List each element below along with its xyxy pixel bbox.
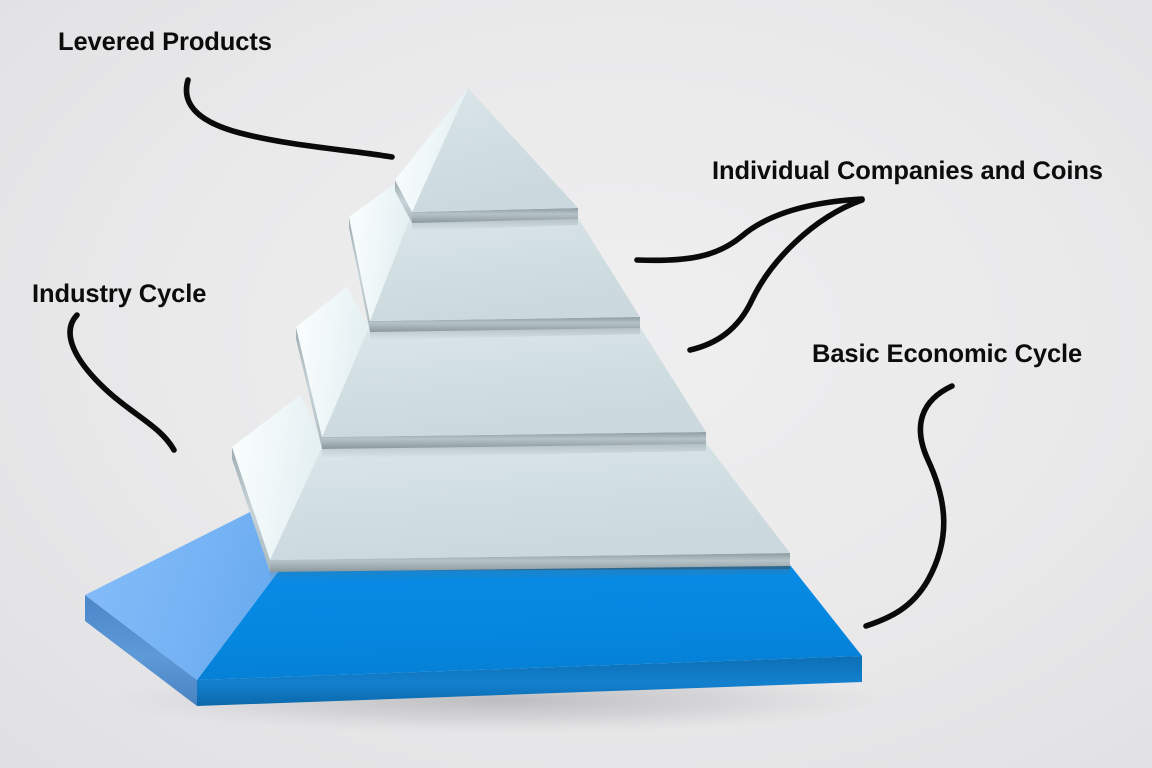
label-basic-economic-cycle: Basic Economic Cycle bbox=[812, 340, 1082, 368]
label-industry-cycle: Industry Cycle bbox=[32, 280, 206, 308]
tier4-face-front bbox=[270, 443, 790, 560]
tier2-face-front bbox=[370, 218, 640, 321]
label-individual-companies-and-coins: Individual Companies and Coins bbox=[712, 157, 1103, 185]
connector-individual-upper bbox=[637, 199, 862, 260]
connector-levered-products bbox=[186, 80, 392, 157]
tier-apex-grey[interactable] bbox=[395, 88, 578, 231]
diagram-canvas: Levered Products Industry Cycle Individu… bbox=[0, 0, 1152, 768]
connector-industry-cycle bbox=[70, 315, 174, 450]
tier3-face-front bbox=[322, 327, 706, 437]
pyramid-diagram bbox=[0, 0, 1152, 768]
connector-basic-economic bbox=[866, 386, 952, 626]
connector-individual-lower bbox=[690, 200, 862, 350]
label-levered-products: Levered Products bbox=[58, 28, 272, 56]
